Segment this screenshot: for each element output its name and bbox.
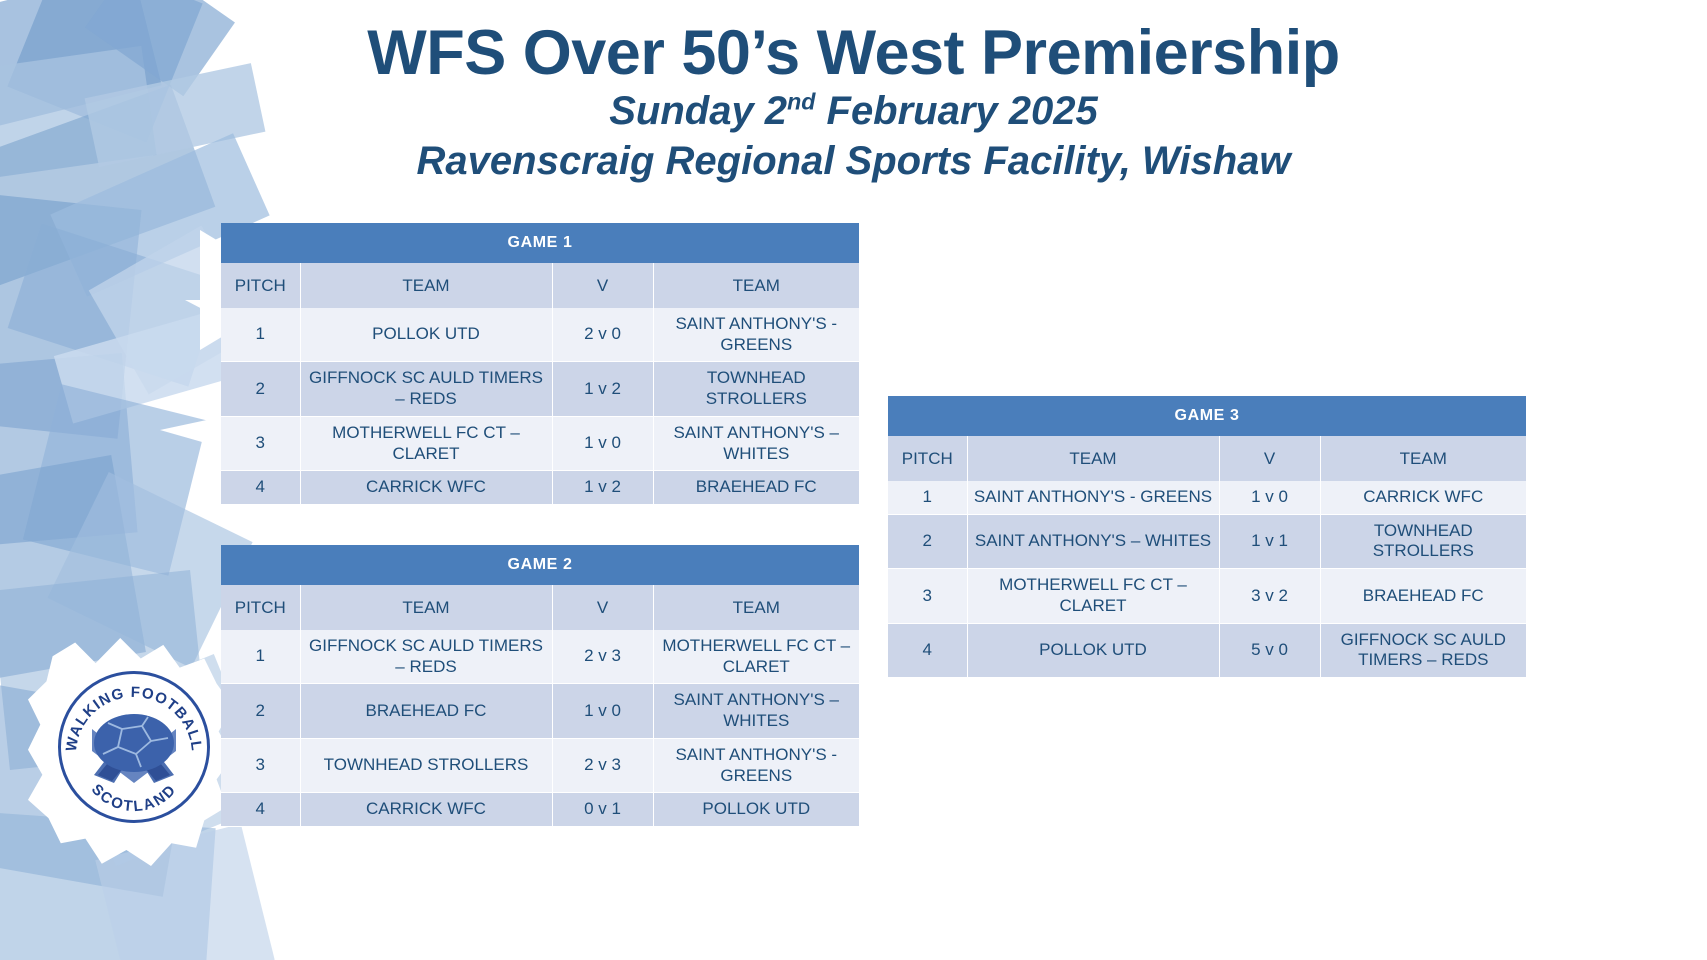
team-b-cell: POLLOK UTD: [653, 793, 859, 827]
team-a-cell: POLLOK UTD: [300, 308, 552, 362]
table-row: 4CARRICK WFC1 v 2BRAEHEAD FC: [221, 471, 859, 505]
pitch-cell: 1: [888, 481, 967, 514]
team-b-cell: MOTHERWELL FC CT – CLARET: [653, 630, 859, 684]
table-row: 2SAINT ANTHONY'S – WHITES1 v 1TOWNHEAD S…: [888, 514, 1526, 568]
pitch-cell: 3: [888, 569, 967, 623]
column-header-1: TEAM: [300, 585, 552, 630]
score-cell: 3 v 2: [1219, 569, 1320, 623]
game-1-table: GAME 1PITCHTEAMVTEAM1POLLOK UTD2 v 0SAIN…: [221, 223, 859, 505]
column-header-0: PITCH: [888, 436, 967, 481]
team-a-cell: SAINT ANTHONY'S – WHITES: [967, 514, 1219, 568]
table-row: 3MOTHERWELL FC CT – CLARET3 v 2BRAEHEAD …: [888, 569, 1526, 623]
team-b-cell: TOWNHEAD STROLLERS: [653, 362, 859, 416]
team-a-cell: GIFFNOCK SC AULD TIMERS – REDS: [300, 630, 552, 684]
team-a-cell: SAINT ANTHONY'S - GREENS: [967, 481, 1219, 514]
column-header-1: TEAM: [300, 263, 552, 308]
column-header-2: V: [552, 263, 653, 308]
header: WFS Over 50’s West Premiership Sunday 2n…: [0, 0, 1707, 186]
team-b-cell: SAINT ANTHONY'S – WHITES: [653, 416, 859, 470]
event-date: Sunday 2nd February 2025: [0, 86, 1707, 136]
event-date-ordinal: nd: [787, 89, 815, 115]
team-b-cell: SAINT ANTHONY'S - GREENS: [653, 738, 859, 792]
team-a-cell: TOWNHEAD STROLLERS: [300, 738, 552, 792]
game-title: GAME 3: [888, 396, 1526, 436]
team-b-cell: SAINT ANTHONY'S – WHITES: [653, 684, 859, 738]
walking-football-scotland-logo: WALKING FOOTBALL SCOTLAND: [18, 630, 248, 875]
score-cell: 1 v 2: [552, 362, 653, 416]
team-b-cell: BRAEHEAD FC: [653, 471, 859, 505]
pitch-cell: 2: [888, 514, 967, 568]
score-cell: 1 v 0: [552, 684, 653, 738]
team-a-cell: CARRICK WFC: [300, 471, 552, 505]
pitch-cell: 1: [221, 308, 300, 362]
column-header-3: TEAM: [653, 585, 859, 630]
pitch-cell: 3: [221, 416, 300, 470]
score-cell: 1 v 1: [1219, 514, 1320, 568]
game-2-table: GAME 2PITCHTEAMVTEAM1GIFFNOCK SC AULD TI…: [221, 545, 859, 827]
table-row: 3TOWNHEAD STROLLERS2 v 3SAINT ANTHONY'S …: [221, 738, 859, 792]
table-row: 1GIFFNOCK SC AULD TIMERS – REDS2 v 3MOTH…: [221, 630, 859, 684]
table-row: 2GIFFNOCK SC AULD TIMERS – REDS1 v 2TOWN…: [221, 362, 859, 416]
team-a-cell: GIFFNOCK SC AULD TIMERS – REDS: [300, 362, 552, 416]
team-b-cell: SAINT ANTHONY'S - GREENS: [653, 308, 859, 362]
team-b-cell: BRAEHEAD FC: [1320, 569, 1526, 623]
pitch-cell: 2: [221, 362, 300, 416]
score-cell: 1 v 0: [552, 416, 653, 470]
game-3-table: GAME 3PITCHTEAMVTEAM1SAINT ANTHONY'S - G…: [888, 396, 1526, 678]
event-venue: Ravenscraig Regional Sports Facility, Wi…: [0, 136, 1707, 186]
game-title: GAME 2: [221, 545, 859, 585]
team-a-cell: MOTHERWELL FC CT – CLARET: [300, 416, 552, 470]
score-cell: 2 v 3: [552, 738, 653, 792]
event-date-prefix: Sunday 2: [609, 89, 787, 133]
score-cell: 0 v 1: [552, 793, 653, 827]
table-row: 1POLLOK UTD2 v 0SAINT ANTHONY'S - GREENS: [221, 308, 859, 362]
column-header-2: V: [1219, 436, 1320, 481]
page-title: WFS Over 50’s West Premiership: [0, 20, 1707, 86]
pitch-cell: 2: [221, 684, 300, 738]
score-cell: 2 v 3: [552, 630, 653, 684]
score-cell: 1 v 0: [1219, 481, 1320, 514]
column-header-2: V: [552, 585, 653, 630]
team-a-cell: MOTHERWELL FC CT – CLARET: [967, 569, 1219, 623]
team-b-cell: GIFFNOCK SC AULD TIMERS – REDS: [1320, 623, 1526, 677]
pitch-cell: 3: [221, 738, 300, 792]
score-cell: 5 v 0: [1219, 623, 1320, 677]
pitch-cell: 1: [221, 630, 300, 684]
team-a-cell: BRAEHEAD FC: [300, 684, 552, 738]
event-date-suffix: February 2025: [815, 89, 1097, 133]
column-header-3: TEAM: [653, 263, 859, 308]
team-b-cell: TOWNHEAD STROLLERS: [1320, 514, 1526, 568]
team-a-cell: POLLOK UTD: [967, 623, 1219, 677]
column-header-1: TEAM: [967, 436, 1219, 481]
logo-badge: WALKING FOOTBALL SCOTLAND: [55, 668, 213, 826]
score-cell: 1 v 2: [552, 471, 653, 505]
pitch-cell: 4: [221, 793, 300, 827]
table-row: 3MOTHERWELL FC CT – CLARET1 v 0SAINT ANT…: [221, 416, 859, 470]
column-header-3: TEAM: [1320, 436, 1526, 481]
score-cell: 2 v 0: [552, 308, 653, 362]
table-row: 4CARRICK WFC0 v 1POLLOK UTD: [221, 793, 859, 827]
pitch-cell: 4: [888, 623, 967, 677]
table-row: 4POLLOK UTD5 v 0GIFFNOCK SC AULD TIMERS …: [888, 623, 1526, 677]
pitch-cell: 4: [221, 471, 300, 505]
team-a-cell: CARRICK WFC: [300, 793, 552, 827]
column-header-0: PITCH: [221, 263, 300, 308]
team-b-cell: CARRICK WFC: [1320, 481, 1526, 514]
table-row: 1SAINT ANTHONY'S - GREENS1 v 0CARRICK WF…: [888, 481, 1526, 514]
column-header-0: PITCH: [221, 585, 300, 630]
game-title: GAME 1: [221, 223, 859, 263]
table-row: 2BRAEHEAD FC1 v 0SAINT ANTHONY'S – WHITE…: [221, 684, 859, 738]
logo-graphic: WALKING FOOTBALL SCOTLAND: [58, 671, 210, 823]
